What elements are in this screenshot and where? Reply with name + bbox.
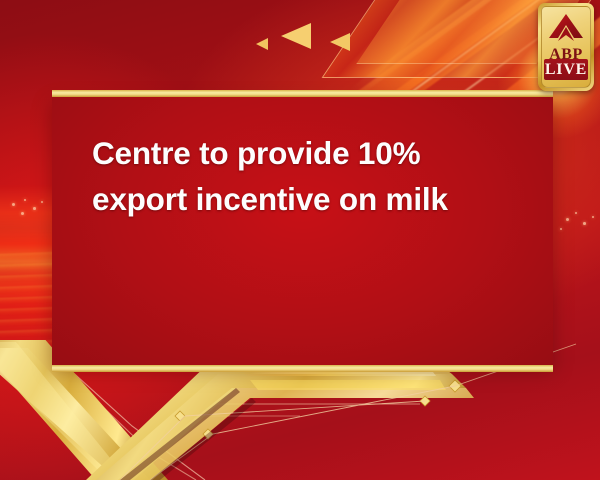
headline-text: Centre to provide 10% export incentive o…	[92, 131, 522, 222]
card-top-gold-rule	[52, 90, 553, 97]
triangle-small-icon	[256, 38, 268, 50]
news-graphic-canvas: Centre to provide 10% export incentive o…	[0, 0, 600, 480]
logo-live-text: LIVE	[545, 62, 587, 78]
abp-arrow-icon	[549, 14, 583, 49]
card-bottom-gold-rule	[52, 365, 553, 372]
logo-live-band: LIVE	[544, 59, 588, 80]
abp-live-logo[interactable]: ABP LIVE	[538, 3, 594, 91]
triangle-large-icon	[281, 23, 311, 49]
logo-badge-inner: ABP LIVE	[541, 6, 591, 88]
headline-card: Centre to provide 10% export incentive o…	[52, 97, 553, 365]
triangle-medium-icon	[330, 33, 350, 51]
